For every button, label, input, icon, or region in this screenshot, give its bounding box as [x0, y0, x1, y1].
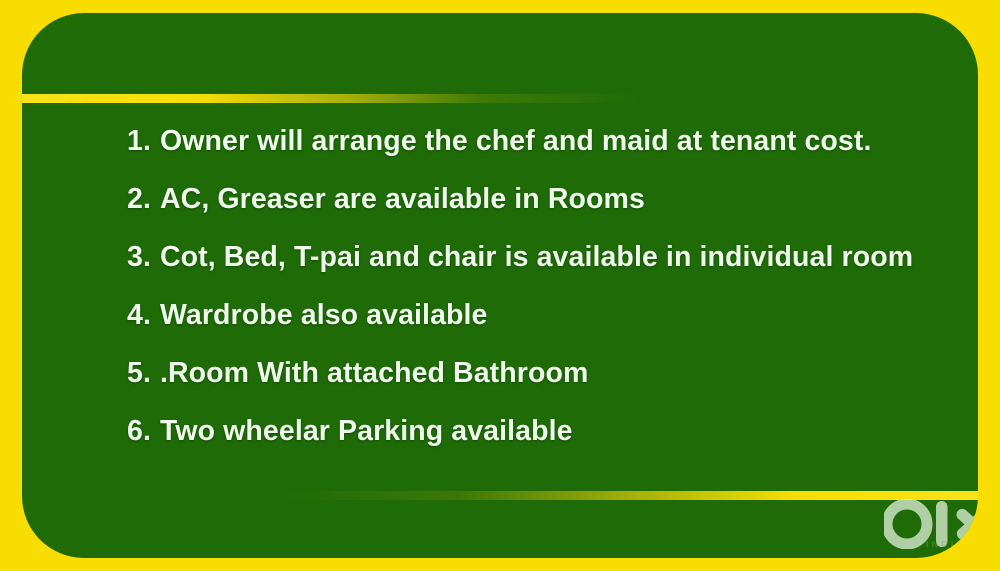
list-item: 1. Owner will arrange the chef and maid …: [127, 125, 957, 183]
list-item-label: .Room With attached Bathroom: [160, 357, 588, 390]
divider-top: [22, 94, 642, 103]
list-item-index: 1.: [127, 125, 151, 158]
olx-logo-watermark: INDIA: [884, 499, 978, 558]
list-item-label: AC, Greaser are available in Rooms: [160, 183, 645, 216]
list-item: 2. AC, Greaser are available in Rooms: [127, 183, 957, 241]
divider-bottom: [278, 491, 978, 500]
list-item-label: Cot, Bed, T-pai and chair is available i…: [160, 241, 913, 274]
list-item-index: 2.: [127, 183, 151, 216]
list-item-index: 5.: [127, 357, 151, 390]
list-item-index: 4.: [127, 299, 151, 332]
list-item: 3. Cot, Bed, T-pai and chair is availabl…: [127, 241, 957, 299]
list-item: 4. Wardrobe also available: [127, 299, 957, 357]
list-item-label: Wardrobe also available: [160, 299, 488, 332]
list-item: 6. Two wheelar Parking available: [127, 415, 957, 473]
feature-list: 1. Owner will arrange the chef and maid …: [127, 125, 957, 473]
list-item-index: 3.: [127, 241, 151, 274]
list-item-index: 6.: [127, 415, 151, 448]
listing-ad-image: 1. Owner will arrange the chef and maid …: [0, 0, 1000, 571]
olx-region-label: INDIA: [926, 539, 966, 549]
list-item: 5. .Room With attached Bathroom: [127, 357, 957, 415]
list-item-label: Two wheelar Parking available: [160, 415, 573, 448]
green-content-panel: 1. Owner will arrange the chef and maid …: [22, 13, 978, 558]
list-item-label: Owner will arrange the chef and maid at …: [160, 125, 872, 158]
